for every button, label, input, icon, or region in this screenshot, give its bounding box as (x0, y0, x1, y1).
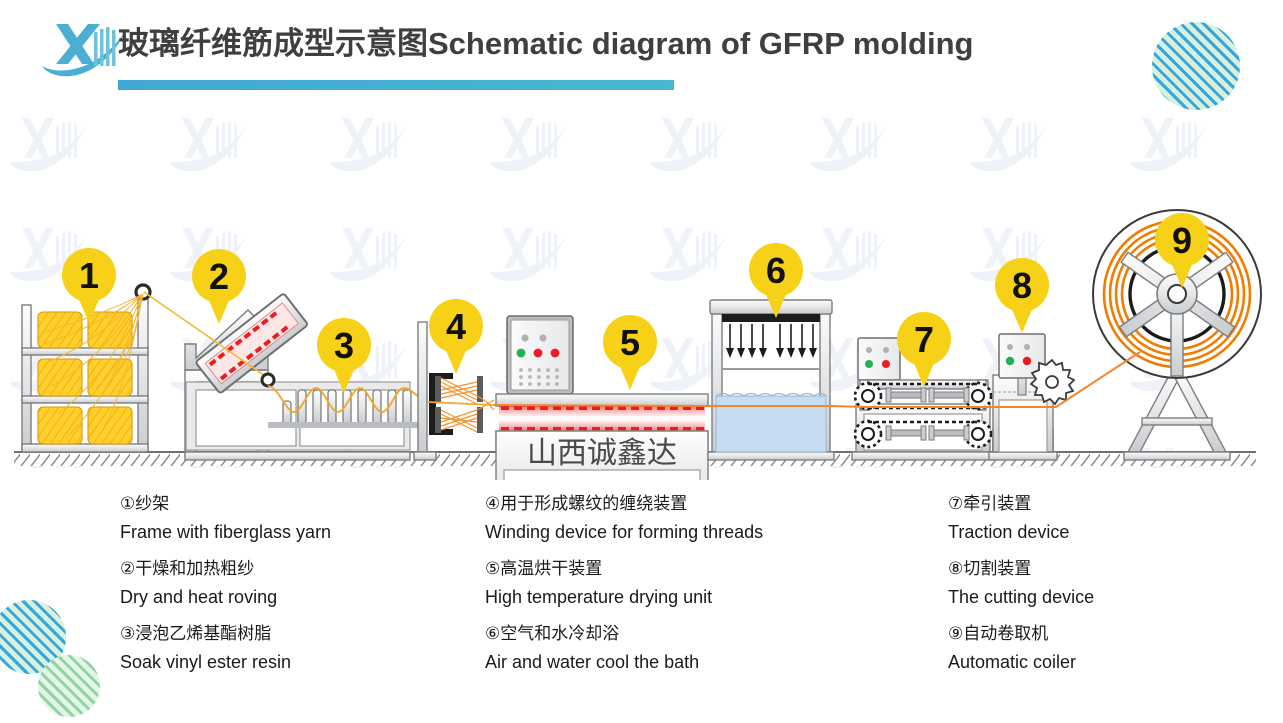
legend-label-cn: ⑤高温烘干装置 (485, 557, 925, 582)
legend-column-3: ⑦牵引装置 Traction device ⑧切割装置 The cutting … (948, 492, 1268, 687)
process-diagram: 山西诚鑫达 www.sxcxd.xyz (0, 100, 1283, 480)
legend-label-en: Dry and heat roving (120, 582, 465, 613)
legend-label-cn: ⑧切割装置 (948, 557, 1268, 582)
legend-label-en: Soak vinyl ester resin (120, 647, 465, 678)
legend-section: ①纱架 Frame with fiberglass yarn ②干燥和加热粗纱 … (0, 492, 1283, 723)
title-underline-rule (118, 80, 674, 90)
legend-label-cn: ④用于形成螺纹的缠绕装置 (485, 492, 925, 517)
legend-label-cn: ②干燥和加热粗纱 (120, 557, 465, 582)
legend-label-en: Winding device for forming threads (485, 517, 925, 548)
badge-number: 4 (446, 306, 466, 347)
badge-number: 9 (1172, 220, 1192, 261)
page-title-en: Schematic diagram of GFRP molding (428, 26, 973, 61)
legend-label-cn: ⑥空气和水冷却浴 (485, 622, 925, 647)
legend-item: ⑥空气和水冷却浴 Air and water cool the bath (485, 622, 925, 678)
legend-item: ④用于形成螺纹的缠绕装置 Winding device for forming … (485, 492, 925, 548)
control-panel-drying (507, 316, 573, 394)
legend-item: ⑨自动卷取机 Automatic coiler (948, 622, 1268, 678)
legend-label-en: Frame with fiberglass yarn (120, 517, 465, 548)
legend-label-en: Automatic coiler (948, 647, 1268, 678)
legend-item: ②干燥和加热粗纱 Dry and heat roving (120, 557, 465, 613)
legend-item: ⑤高温烘干装置 High temperature drying unit (485, 557, 925, 613)
legend-label-cn: ①纱架 (120, 492, 465, 517)
page-header: 玻璃纤维筋成型示意图Schematic diagram of GFRP mold… (0, 0, 1283, 100)
legend-item: ⑧切割装置 The cutting device (948, 557, 1268, 613)
badge-number: 6 (766, 250, 786, 291)
legend-label-cn: ⑦牵引装置 (948, 492, 1268, 517)
legend-label-cn: ⑨自动卷取机 (948, 622, 1268, 647)
legend-label-cn: ③浸泡乙烯基酯树脂 (120, 622, 465, 647)
badge-number: 5 (620, 322, 640, 363)
legend-item: ⑦牵引装置 Traction device (948, 492, 1268, 548)
legend-column-2: ④用于形成螺纹的缠绕装置 Winding device for forming … (485, 492, 925, 687)
decorative-striped-circle-bottom-left-green (38, 655, 100, 717)
badge-number: 8 (1012, 265, 1032, 306)
badge-number: 2 (209, 256, 229, 297)
badge-number: 7 (914, 319, 934, 360)
legend-label-en: High temperature drying unit (485, 582, 925, 613)
page-title-cn: 玻璃纤维筋成型示意图 (118, 26, 428, 61)
badge-number: 1 (79, 255, 99, 296)
legend-item: ①纱架 Frame with fiberglass yarn (120, 492, 465, 548)
legend-item: ③浸泡乙烯基酯树脂 Soak vinyl ester resin (120, 622, 465, 678)
brand-cn-text: 山西诚鑫达 (527, 436, 677, 471)
badge-number: 3 (334, 325, 354, 366)
legend-column-1: ①纱架 Frame with fiberglass yarn ②干燥和加热粗纱 … (120, 492, 465, 687)
legend-label-en: Air and water cool the bath (485, 647, 925, 678)
page-title: 玻璃纤维筋成型示意图Schematic diagram of GFRP mold… (118, 22, 973, 66)
legend-label-en: The cutting device (948, 582, 1268, 613)
control-panel-traction (858, 338, 900, 380)
legend-label-en: Traction device (948, 517, 1268, 548)
sxcxd-logo (38, 16, 130, 80)
